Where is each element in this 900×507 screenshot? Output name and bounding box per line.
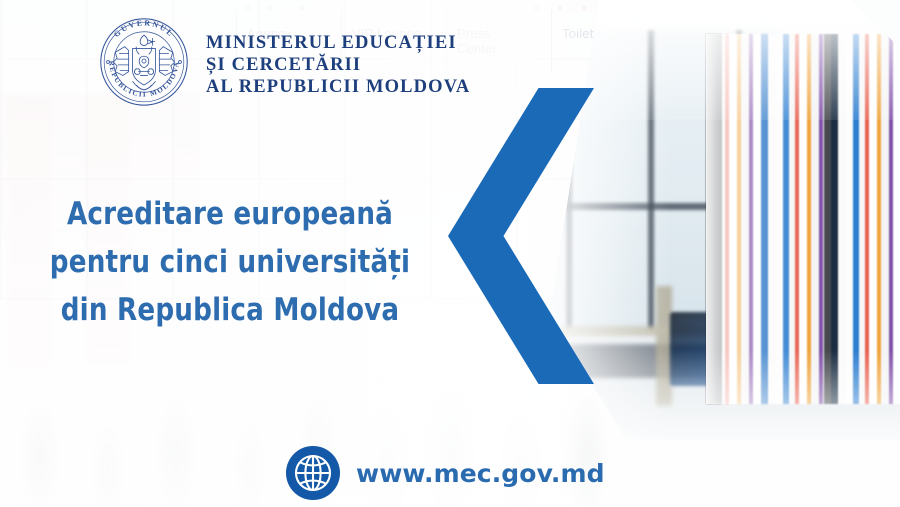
library-photo-panel — [550, 0, 900, 440]
svg-text:GUVERNUL: GUVERNUL — [112, 18, 176, 39]
headline-line-1: Acreditare europeană — [40, 190, 420, 238]
website-url[interactable]: www.mec.gov.md — [356, 459, 605, 488]
announcement-banner: Agency VIP Lounge Press Center Toilettes — [0, 0, 900, 507]
globe-icon — [286, 446, 340, 500]
ministry-name-block: MINISTERUL EDUCAȚIEI ȘI CERCETĂRII AL RE… — [206, 14, 470, 98]
website-footer[interactable]: www.mec.gov.md — [286, 446, 605, 500]
headline: Acreditare europeană pentru cinci univer… — [28, 190, 432, 334]
headline-line-2: pentru cinci universități — [40, 238, 420, 286]
ministry-name-line-3: AL REPUBLICII MOLDOVA — [206, 76, 470, 98]
moldova-government-seal-icon: GUVERNUL REPUBLICII MOLDOVA — [96, 14, 192, 110]
headline-line-3: din Republica Moldova — [40, 286, 420, 334]
ministry-name-line-2: ȘI CERCETĂRII — [206, 54, 470, 76]
ministry-lockup: GUVERNUL REPUBLICII MOLDOVA — [96, 14, 470, 110]
ministry-name-line-1: MINISTERUL EDUCAȚIEI — [206, 32, 470, 54]
